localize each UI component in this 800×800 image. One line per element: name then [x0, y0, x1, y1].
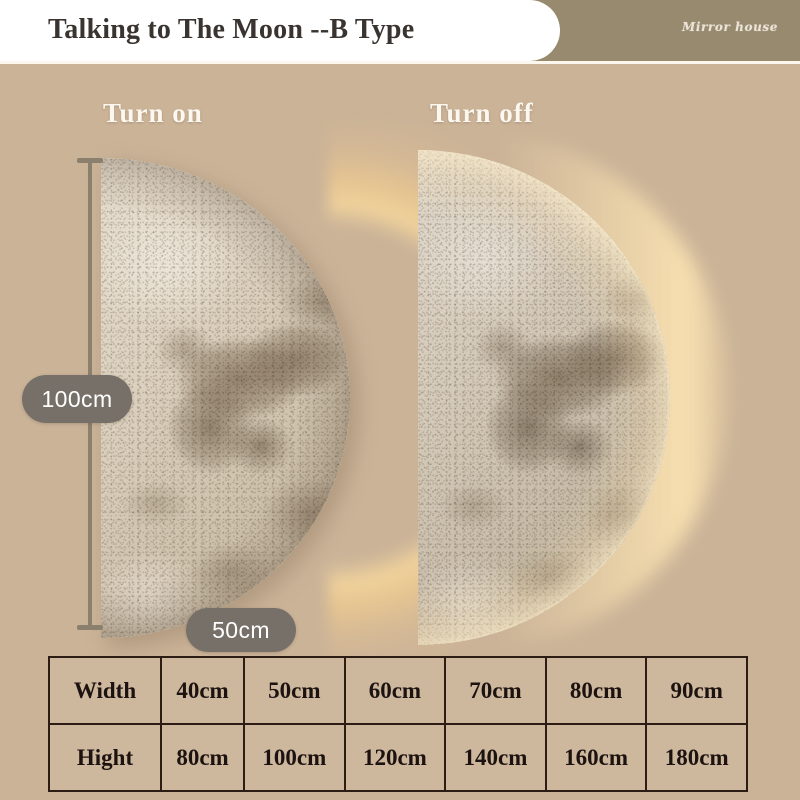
page-title: Talking to The Moon --B Type [48, 6, 548, 54]
cell-width-4: 80cm [546, 657, 647, 724]
cell-height-0: 80cm [161, 724, 244, 791]
brand-logo: Mirror house [682, 20, 778, 34]
header-divider [0, 61, 800, 64]
cell-height-1: 100cm [244, 724, 345, 791]
moon-half-disc-left [101, 158, 350, 638]
moon-grain-overlay-fine [418, 150, 670, 645]
cell-width-5: 90cm [646, 657, 747, 724]
cell-width-3: 70cm [445, 657, 546, 724]
width-badge: 50cm [186, 608, 296, 652]
measure-cap-bottom [77, 625, 103, 630]
cell-width-2: 60cm [345, 657, 446, 724]
table-row: Width 40cm 50cm 60cm 70cm 80cm 90cm [49, 657, 747, 724]
cell-height-5: 180cm [646, 724, 747, 791]
cell-height-4: 160cm [546, 724, 647, 791]
cell-width-1: 50cm [244, 657, 345, 724]
row-header-height: Hight [49, 724, 161, 791]
moon-grain-overlay-fine [101, 158, 350, 638]
size-spec-table-body: Width 40cm 50cm 60cm 70cm 80cm 90cm High… [49, 657, 747, 791]
table-row: Hight 80cm 100cm 120cm 140cm 160cm 180cm [49, 724, 747, 791]
label-turn-off: Turn off [430, 98, 534, 129]
cell-height-2: 120cm [345, 724, 446, 791]
size-spec-table: Width 40cm 50cm 60cm 70cm 80cm 90cm High… [48, 656, 748, 792]
product-showcase [0, 64, 800, 654]
moon-half-disc-right [418, 150, 670, 645]
cell-height-3: 140cm [445, 724, 546, 791]
height-badge: 100cm [22, 375, 132, 423]
row-header-width: Width [49, 657, 161, 724]
cell-width-0: 40cm [161, 657, 244, 724]
measure-cap-top [77, 158, 103, 163]
label-turn-on: Turn on [103, 98, 203, 129]
page-header: Talking to The Moon --B Type Mirror hous… [0, 0, 800, 61]
